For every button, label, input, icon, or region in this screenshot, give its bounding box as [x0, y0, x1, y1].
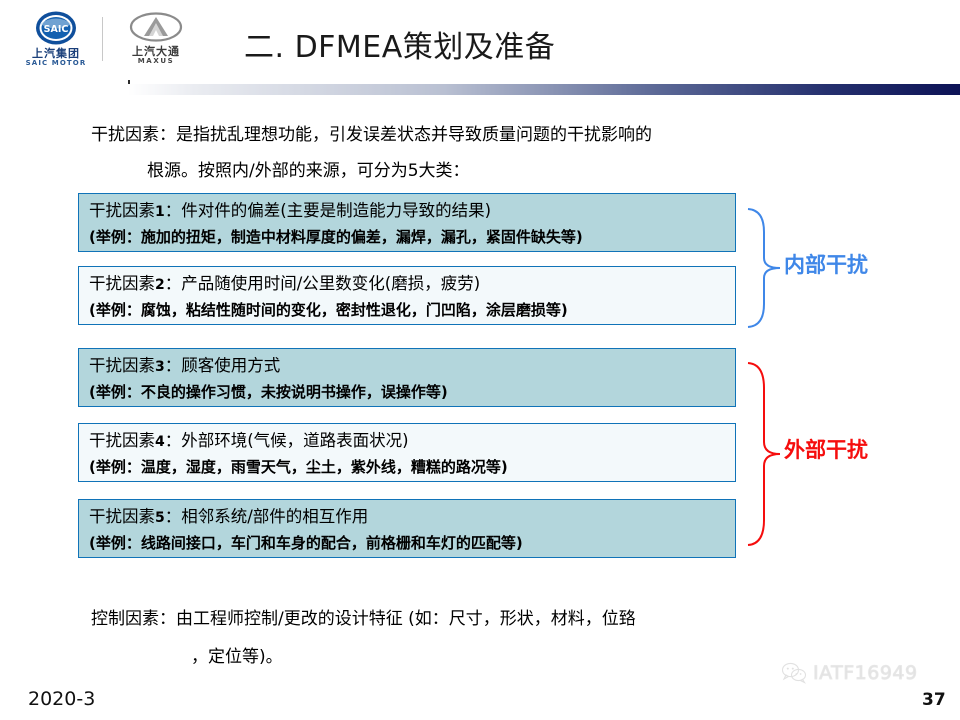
group-label-external: 外部干扰: [784, 434, 868, 464]
factor-box-5: 干扰因素5：相邻系统/部件的相互作用 (举例：线路间接口，车门和车身的配合，前格…: [78, 499, 736, 558]
factor-number-4: 4: [155, 434, 165, 450]
factor-title-4: 干扰因素4：外部环境(气候，道路表面状况): [89, 428, 727, 455]
factor-title-text-5: ：相邻系统/部件的相互作用: [165, 507, 369, 526]
intro-line-2: 根源。按照内/外部的来源，可分为5大类：: [147, 152, 470, 190]
header-gradient-rule: [128, 84, 960, 95]
group-label-internal: 内部干扰: [784, 249, 868, 279]
logo-divider: [102, 17, 103, 61]
internal-group-brace: [742, 206, 784, 330]
factor-number-3: 3: [155, 359, 165, 375]
factor-number-5: 5: [155, 510, 165, 526]
factor-title-2: 干扰因素2：产品随使用时间/公里数变化(磨损，疲劳): [89, 271, 727, 298]
page-title: 二. DFMEA策划及准备: [244, 22, 555, 66]
factor-title-text-4: ：外部环境(气候，道路表面状况): [165, 431, 409, 450]
maxus-logo-en: MAXUS: [138, 58, 175, 66]
slide-canvas: SAIC 上汽集团 SAIC MOTOR 上汽大通 MAXUS 二. DFMEA…: [0, 0, 960, 720]
factor-box-2: 干扰因素2：产品随使用时间/公里数变化(磨损，疲劳) (举例：腐蚀，粘结性随时间…: [78, 266, 736, 325]
maxus-emblem-icon: [128, 12, 184, 44]
factor-title-text-2: ：产品随使用时间/公里数变化(磨损，疲劳): [165, 274, 480, 293]
control-line-1: 控制因素：由工程师控制/更改的设计特征 (如：尺寸，形状，材料，位臵: [91, 600, 636, 638]
factor-title-prefix-5: 干扰因素: [89, 507, 155, 526]
factor-number-2: 2: [155, 277, 165, 293]
factor-title-prefix-1: 干扰因素: [89, 201, 155, 220]
factor-box-3: 干扰因素3：顾客使用方式 (举例：不良的操作习惯，未按说明书操作，误操作等): [78, 348, 736, 407]
factor-title-3: 干扰因素3：顾客使用方式: [89, 353, 727, 380]
factor-title-5: 干扰因素5：相邻系统/部件的相互作用: [89, 504, 727, 531]
factor-title-text-3: ：顾客使用方式: [165, 356, 281, 375]
factor-example-2: (举例：腐蚀，粘结性随时间的变化，密封性退化，门凹陷，涂层磨损等): [89, 298, 727, 323]
saic-logo: SAIC 上汽集团 SAIC MOTOR: [14, 7, 98, 71]
factor-number-1: 1: [155, 204, 165, 220]
watermark: IATF16949: [781, 662, 918, 684]
footer-date: 2020-3: [28, 688, 95, 710]
factor-example-1: (举例：施加的扭矩，制造中材料厚度的偏差，漏焊，漏孔，紧固件缺失等): [89, 225, 727, 250]
factor-title-prefix-2: 干扰因素: [89, 274, 155, 293]
factor-box-1: 干扰因素1：件对件的偏差(主要是制造能力导致的结果) (举例：施加的扭矩，制造中…: [78, 193, 736, 252]
saic-logo-en: SAIC MOTOR: [26, 60, 87, 68]
wechat-icon: [781, 662, 807, 684]
svg-text:SAIC: SAIC: [44, 24, 69, 35]
factor-example-3: (举例：不良的操作习惯，未按说明书操作，误操作等): [89, 380, 727, 405]
maxus-logo: 上汽大通 MAXUS: [110, 7, 202, 71]
factor-title-text-1: ：件对件的偏差(主要是制造能力导致的结果): [165, 201, 491, 220]
footer-page-number: 37: [922, 690, 946, 710]
control-line-2: ，定位等)。: [191, 638, 283, 676]
factor-box-4: 干扰因素4：外部环境(气候，道路表面状况) (举例：温度，湿度，雨雪天气，尘土，…: [78, 423, 736, 482]
factor-example-5: (举例：线路间接口，车门和车身的配合，前格栅和车灯的匹配等): [89, 531, 727, 556]
factor-title-prefix-3: 干扰因素: [89, 356, 155, 375]
external-group-brace: [742, 360, 784, 548]
factor-example-4: (举例：温度，湿度，雨雪天气，尘土，紫外线，糟糕的路况等): [89, 455, 727, 480]
brand-logo-group: SAIC 上汽集团 SAIC MOTOR 上汽大通 MAXUS: [14, 6, 206, 72]
factor-title-1: 干扰因素1：件对件的偏差(主要是制造能力导致的结果): [89, 198, 727, 225]
saic-emblem-icon: SAIC: [34, 10, 78, 46]
watermark-text: IATF16949: [813, 662, 918, 684]
factor-title-prefix-4: 干扰因素: [89, 431, 155, 450]
intro-line-1: 干扰因素：是指扰乱理想功能，引发误差状态并导致质量问题的干扰影响的: [91, 116, 652, 154]
